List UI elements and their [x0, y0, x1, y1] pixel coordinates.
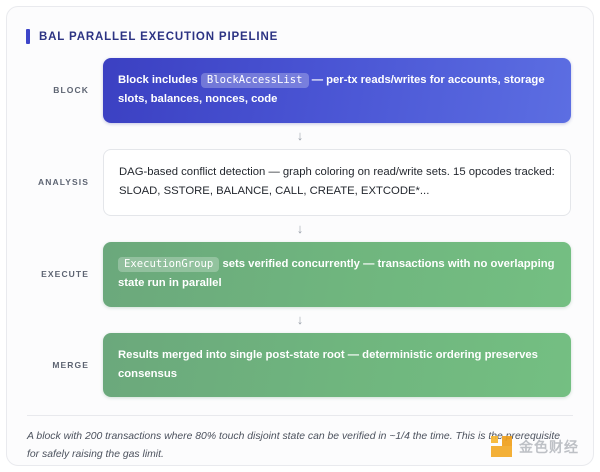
logo-square-top-left — [491, 436, 498, 443]
stage-box-block: Block includes BlockAccessList — per-tx … — [103, 58, 571, 123]
connector-arrow-3: ↓ — [29, 307, 571, 333]
pipeline-stage-block: BLOCK Block includes BlockAccessList — p… — [29, 58, 571, 123]
connector-arrow-2: ↓ — [29, 216, 571, 242]
arrow-down-icon: ↓ — [297, 129, 304, 142]
stage-text-merge: Results merged into single post-state ro… — [118, 349, 538, 380]
stage-box-analysis: DAG-based conflict detection — graph col… — [103, 149, 571, 216]
stage-text-before-block: Block includes — [118, 74, 198, 86]
page-title: BAL PARALLEL EXECUTION PIPELINE — [39, 31, 278, 43]
stage-label-analysis: ANALYSIS — [29, 177, 103, 187]
pipeline-card: BAL PARALLEL EXECUTION PIPELINE BLOCK Bl… — [6, 6, 594, 466]
pipeline-stage-merge: MERGE Results merged into single post-st… — [29, 333, 571, 398]
stage-box-merge: Results merged into single post-state ro… — [103, 333, 571, 398]
watermark: 金色财经 — [491, 436, 579, 457]
jinse-logo-icon — [491, 436, 512, 457]
pipeline-stage-execute: EXECUTE ExecutionGroup sets verified con… — [29, 242, 571, 307]
code-token-executiongroup: ExecutionGroup — [118, 257, 219, 272]
pipeline-stages: BLOCK Block includes BlockAccessList — p… — [7, 44, 593, 397]
stage-text-analysis: DAG-based conflict detection — graph col… — [119, 166, 555, 197]
pipeline-stage-analysis: ANALYSIS DAG-based conflict detection — … — [29, 149, 571, 216]
arrow-down-icon: ↓ — [297, 313, 304, 326]
card-header: BAL PARALLEL EXECUTION PIPELINE — [7, 7, 593, 44]
stage-label-execute: EXECUTE — [29, 269, 103, 279]
stage-box-execute: ExecutionGroup sets verified concurrentl… — [103, 242, 571, 307]
watermark-text: 金色财经 — [519, 437, 579, 457]
arrow-down-icon: ↓ — [297, 222, 304, 235]
logo-bar-bottom — [491, 446, 512, 457]
connector-arrow-1: ↓ — [29, 123, 571, 149]
code-token-blockaccesslist: BlockAccessList — [201, 73, 309, 88]
logo-square-top-right — [502, 436, 512, 446]
header-accent-bar — [26, 29, 30, 44]
stage-label-block: BLOCK — [29, 85, 103, 95]
stage-label-merge: MERGE — [29, 360, 103, 370]
